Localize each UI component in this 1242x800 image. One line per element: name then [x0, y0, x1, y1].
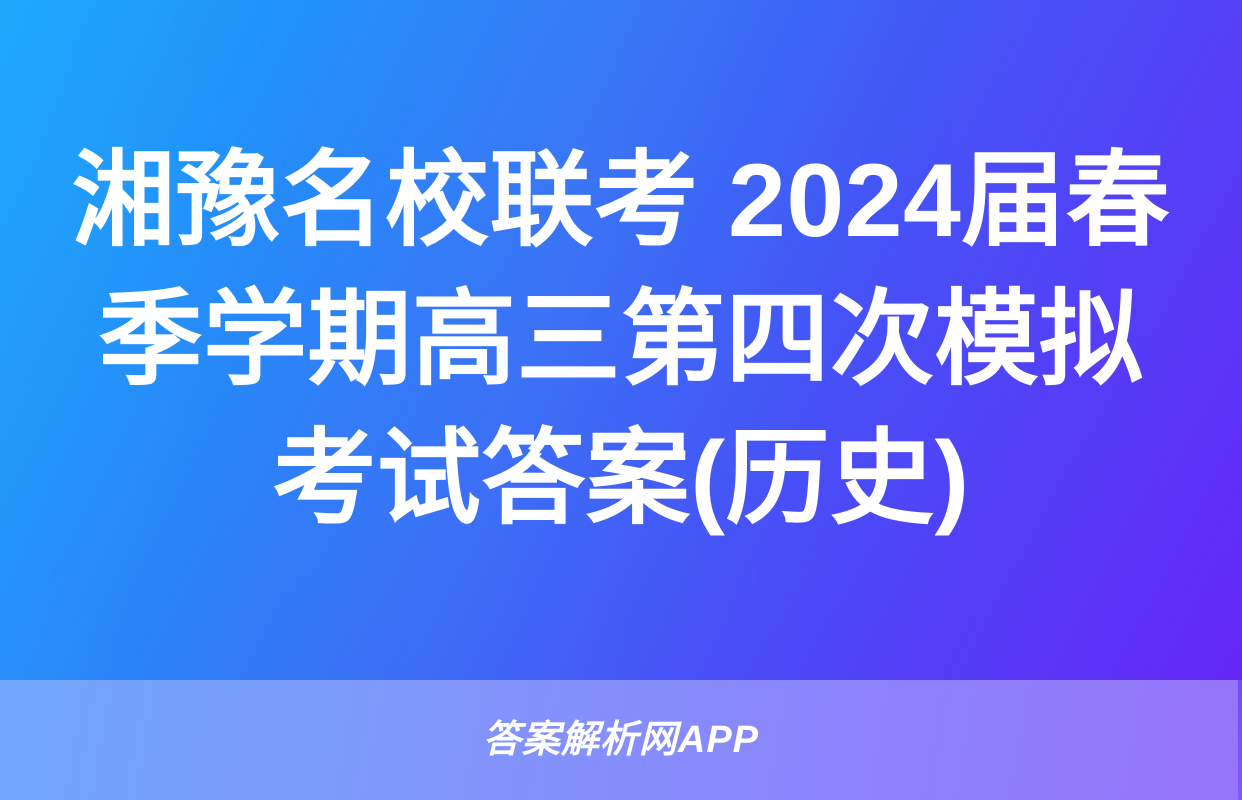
footer-watermark-band: 答案解析网APP: [0, 680, 1242, 800]
hero-gradient-panel: 湘豫名校联考 2024届春季学期高三第四次模拟考试答案(历史): [0, 0, 1242, 680]
answer-poster-card: 湘豫名校联考 2024届春季学期高三第四次模拟考试答案(历史) 答案解析网APP: [0, 0, 1242, 800]
app-watermark-label: 答案解析网APP: [483, 721, 759, 759]
page-title: 湘豫名校联考 2024届春季学期高三第四次模拟考试答案(历史): [61, 132, 1181, 549]
